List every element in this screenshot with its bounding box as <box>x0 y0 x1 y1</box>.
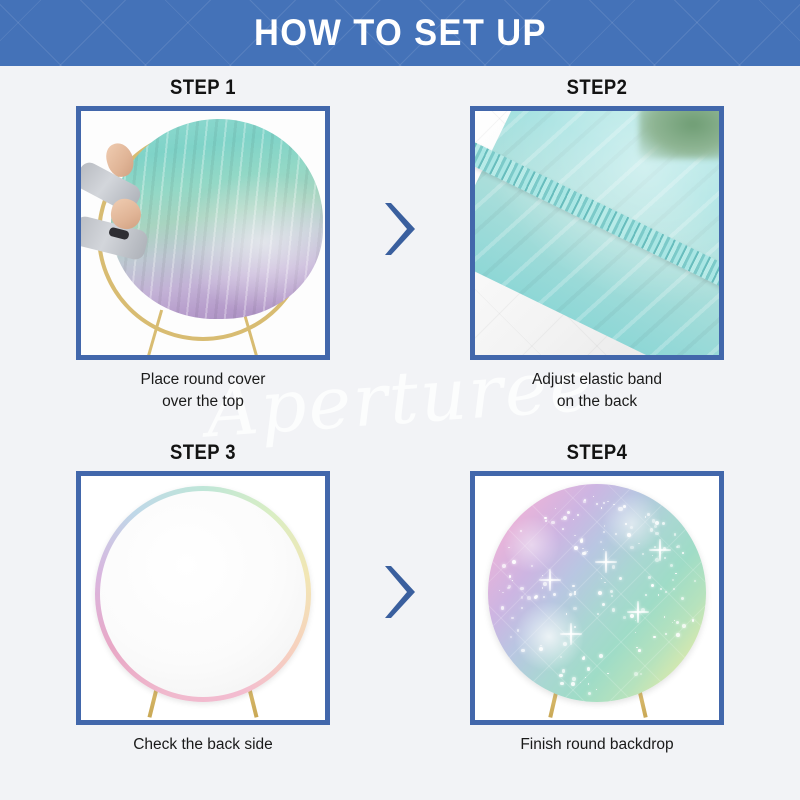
photo3-white-back-face <box>100 491 306 697</box>
photo4-finished-backdrop <box>488 484 706 702</box>
step-photo-4 <box>475 476 719 720</box>
step-card-3: STEP 3 Check the back side <box>38 441 368 756</box>
step-caption-3-line1: Check the back side <box>38 734 368 756</box>
page-title: HOW TO SET UP <box>254 12 547 54</box>
chevron-right-icon <box>381 564 419 620</box>
steps-grid: STEP 1 Place round cover over the top <box>0 66 800 800</box>
step-photo-3 <box>81 476 325 720</box>
page-header: HOW TO SET UP <box>0 0 800 66</box>
step-caption-1-line2: over the top <box>38 391 368 413</box>
step-image-frame-3 <box>76 471 330 725</box>
step-label-1: STEP 1 <box>58 76 348 100</box>
step-card-4: STEP4 Finish round backdrop <box>432 441 762 756</box>
step-photo-2 <box>475 111 719 355</box>
step-photo-1 <box>81 111 325 355</box>
photo4-sparkle-stars <box>488 484 706 702</box>
step-image-frame-2 <box>470 106 724 360</box>
photo1-fabric-sheen <box>111 119 323 319</box>
step-card-2: STEP2 Adjust elastic band on the back <box>432 76 762 413</box>
step-caption-2-line2: on the back <box>432 391 762 413</box>
arrow-step1-to-step2 <box>381 201 419 257</box>
step-caption-2-line1: Adjust elastic band <box>432 369 762 391</box>
step-caption-3: Check the back side <box>38 734 368 756</box>
photo2-green-background-blur <box>639 111 719 159</box>
step-label-2: STEP2 <box>452 76 742 100</box>
step-image-frame-4 <box>470 471 724 725</box>
chevron-right-icon <box>381 201 419 257</box>
step-caption-1-line1: Place round cover <box>38 369 368 391</box>
step-label-4: STEP4 <box>452 441 742 465</box>
step-card-1: STEP 1 Place round cover over the top <box>38 76 368 413</box>
step-label-3: STEP 3 <box>58 441 348 465</box>
arrow-step3-to-step4 <box>381 564 419 620</box>
step-caption-2: Adjust elastic band on the back <box>432 369 762 413</box>
step-caption-4: Finish round backdrop <box>432 734 762 756</box>
step-caption-4-line1: Finish round backdrop <box>432 734 762 756</box>
step-caption-1: Place round cover over the top <box>38 369 368 413</box>
photo3-backdrop-back-side <box>95 486 311 702</box>
photo1-gradient-cover <box>111 119 323 319</box>
step-image-frame-1 <box>76 106 330 360</box>
